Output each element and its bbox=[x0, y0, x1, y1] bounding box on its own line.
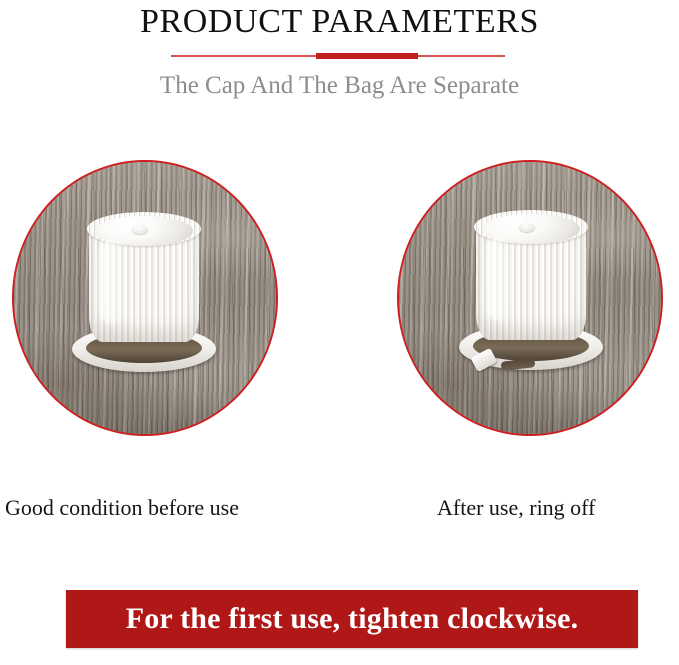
circular-photo-frame bbox=[397, 160, 663, 436]
cap-highlight bbox=[487, 236, 513, 322]
page-subtitle: The Cap And The Bag Are Separate bbox=[0, 70, 679, 102]
bottle-cap-image bbox=[457, 202, 605, 370]
instruction-banner: For the first use, tighten clockwise. bbox=[66, 590, 638, 648]
caption-after-use: After use, ring off bbox=[437, 492, 595, 524]
bottle-cap-image bbox=[70, 204, 218, 372]
caption-before-use: Good condition before use bbox=[5, 492, 239, 524]
divider-thick-accent bbox=[316, 53, 418, 59]
product-photo-before bbox=[12, 160, 280, 436]
circular-photo-frame bbox=[12, 160, 278, 436]
instruction-banner-text: For the first use, tighten clockwise. bbox=[126, 601, 579, 637]
cap-highlight bbox=[100, 238, 126, 324]
header-divider bbox=[0, 48, 679, 64]
product-photo-after bbox=[397, 160, 665, 436]
page-title: PRODUCT PARAMETERS bbox=[0, 2, 679, 42]
product-photo-row bbox=[0, 160, 679, 438]
photo-captions: Good condition before use After use, rin… bbox=[0, 492, 679, 532]
cap-center-nub bbox=[519, 223, 535, 232]
cap-center-nub bbox=[132, 225, 148, 234]
header: PRODUCT PARAMETERS bbox=[0, 0, 679, 42]
